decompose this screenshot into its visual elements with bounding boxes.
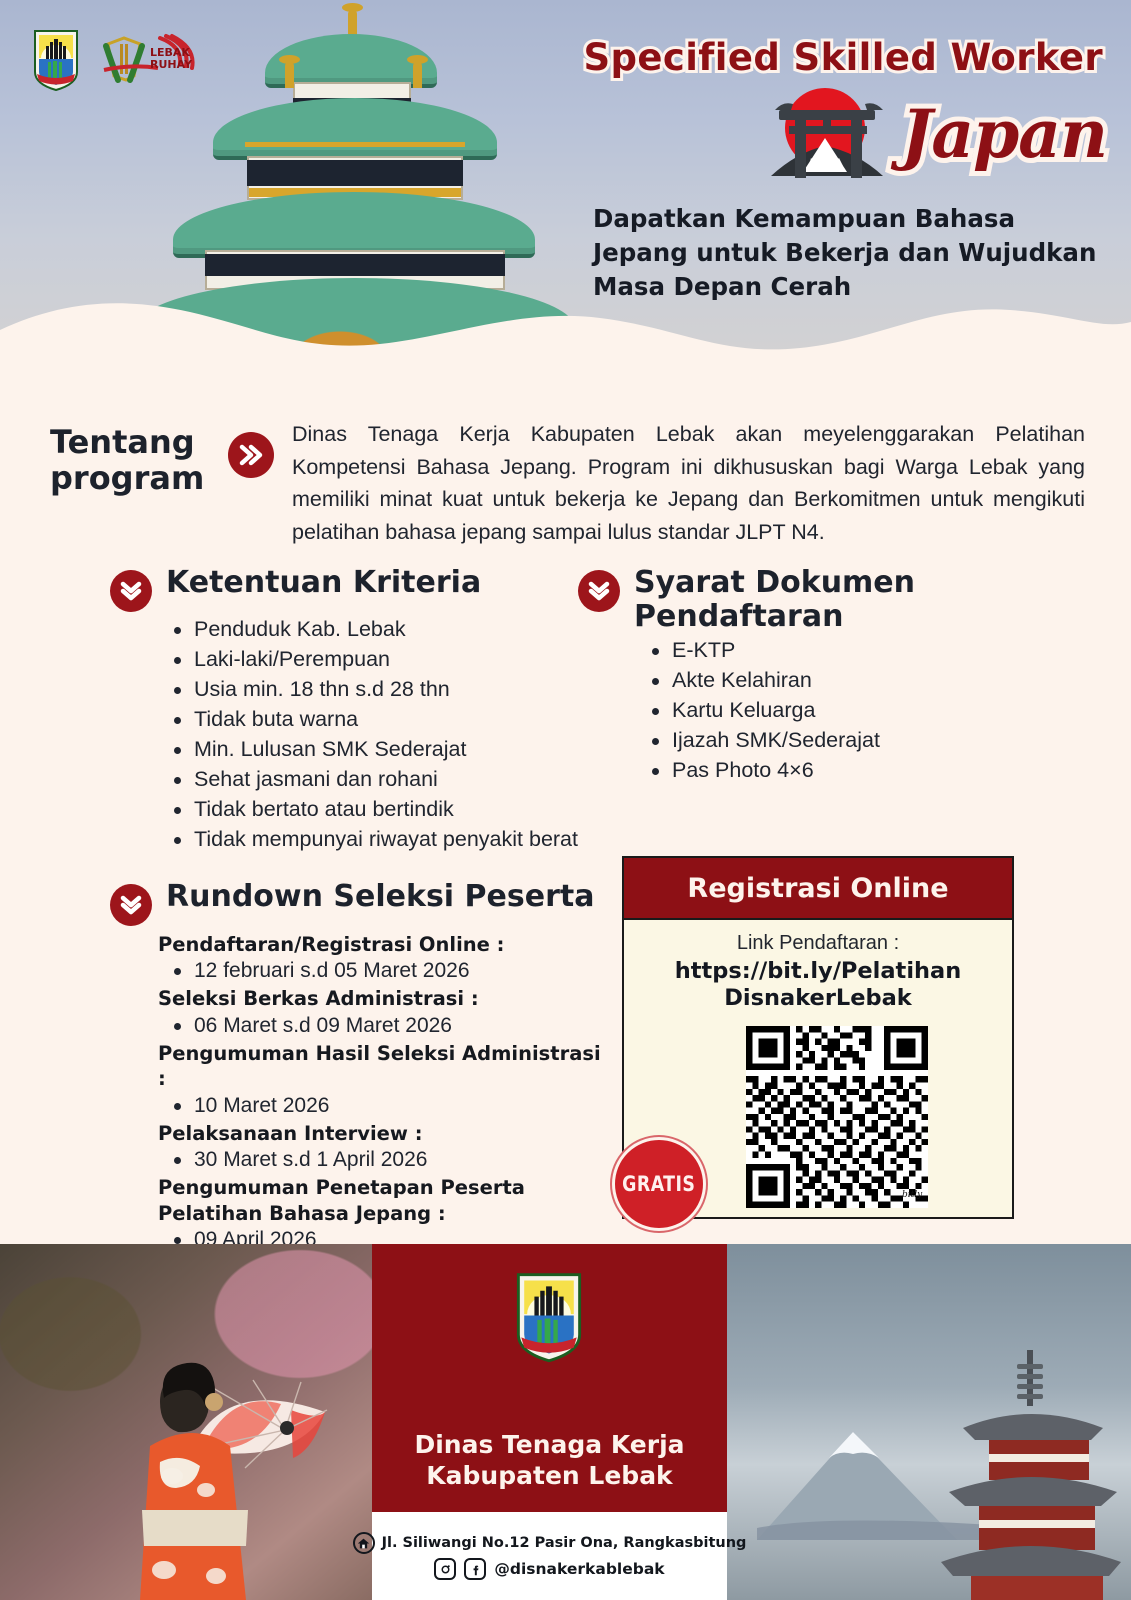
list-item: E-KTP	[646, 637, 1018, 665]
double-chevron-down-icon	[110, 884, 152, 926]
registration-heading: Registrasi Online	[687, 873, 948, 904]
list-item: Sehat jasmani dan rohani	[168, 766, 580, 794]
about-paragraph: Dinas Tenaga Kerja Kabupaten Lebak akan …	[292, 418, 1085, 549]
list-item: Tidak mempunyai riwayat penyakit berat	[168, 826, 580, 854]
hero-banner: LEBAK RUHAY Specified Skilled Worker	[0, 0, 1131, 400]
bitly-watermark: bitly	[902, 1190, 922, 1200]
list-item: Usia min. 18 thn s.d 28 thn	[168, 676, 580, 704]
criteria-header: Ketentuan Kriteria	[110, 566, 580, 612]
double-chevron-right-icon	[228, 432, 274, 478]
criteria-title: Ketentuan Kriteria	[166, 566, 481, 600]
criteria-list: Penduduk Kab. Lebak Laki-laki/Perempuan …	[168, 616, 580, 854]
double-chevron-down-icon	[110, 570, 152, 612]
social-handle[interactable]: @disnakerkablebak	[494, 1560, 664, 1578]
instagram-icon[interactable]	[434, 1558, 456, 1580]
list-item: Penduduk Kab. Lebak	[168, 616, 580, 644]
lebak-ruhay-logo: LEBAK RUHAY	[98, 30, 198, 90]
mount-fuji-pagoda-photo	[727, 1244, 1131, 1600]
contact-strip: Jl. Siliwangi No.12 Pasir Ona, Rangkasbi…	[372, 1512, 727, 1600]
rundown-list: Pendaftaran/Registrasi Online : 12 febru…	[158, 932, 610, 1254]
list-item: Tidak bertato atau bertindik	[168, 796, 580, 824]
pagoda-icon	[941, 1350, 1121, 1600]
documents-section: Syarat Dokumen Pendaftaran E-KTP Akte Ke…	[578, 566, 1018, 787]
japan-logo-row: Japan	[767, 86, 1107, 182]
double-chevron-down-icon	[578, 570, 620, 612]
list-item: Laki-laki/Perempuan	[168, 646, 580, 674]
page-title: Specified Skilled Worker	[583, 36, 1103, 79]
documents-list: E-KTP Akte Kelahiran Kartu Keluarga Ijaz…	[646, 637, 1018, 785]
gratis-label: GRATIS	[622, 1172, 695, 1196]
list-item: Min. Lulusan SMK Sederajat	[168, 736, 580, 764]
rundown-term: Pelaksanaan Interview :	[158, 1121, 610, 1146]
facebook-icon[interactable]	[464, 1558, 486, 1580]
torii-gate-icon	[767, 86, 891, 182]
poster-root: LEBAK RUHAY Specified Skilled Worker	[0, 0, 1131, 1600]
list-item: Kartu Keluarga	[646, 697, 1018, 725]
list-item: Tidak buta warna	[168, 706, 580, 734]
registration-header: Registrasi Online	[624, 858, 1012, 920]
about-label-line2: program	[50, 460, 228, 496]
about-program-section: Tentang program Dinas Tenaga Kerja Kabup…	[50, 418, 1085, 549]
registration-link-label: Link Pendaftaran :	[624, 932, 1012, 955]
registration-url-line1: https://bit.ly/Pelatihan	[624, 958, 1012, 985]
org-line-2: Kabupaten Lebak	[372, 1461, 727, 1492]
org-line-1: Dinas Tenaga Kerja	[372, 1430, 727, 1461]
list-item: Ijazah SMK/Sederajat	[646, 727, 1018, 755]
rundown-value: 30 Maret s.d 1 April 2026	[158, 1146, 610, 1174]
list-item: Pas Photo 4×6	[646, 757, 1018, 785]
documents-title: Syarat Dokumen Pendaftaran	[634, 566, 1018, 633]
rundown-value: 12 februari s.d 05 Maret 2026	[158, 957, 610, 985]
kimono-woman-photo	[0, 1244, 372, 1600]
rundown-header: Rundown Seleksi Peserta	[110, 880, 610, 926]
rundown-section: Rundown Seleksi Peserta Pendaftaran/Regi…	[110, 880, 610, 1255]
rundown-term: Seleksi Berkas Administrasi :	[158, 986, 610, 1011]
rundown-term: Pendaftaran/Registrasi Online :	[158, 932, 610, 957]
rundown-term: Pengumuman Penetapan Peserta Pelatihan B…	[158, 1175, 610, 1226]
registration-url[interactable]: https://bit.ly/Pelatihan DisnakerLebak	[624, 958, 1012, 1013]
about-label-line1: Tentang	[50, 424, 228, 460]
about-label: Tentang program	[50, 418, 228, 549]
organization-name: Dinas Tenaga Kerja Kabupaten Lebak	[372, 1430, 727, 1491]
svg-text:RUHAY: RUHAY	[150, 58, 193, 71]
registration-url-line2: DisnakerLebak	[624, 985, 1012, 1012]
address-row: Jl. Siliwangi No.12 Pasir Ona, Rangkasbi…	[353, 1532, 747, 1554]
rundown-title: Rundown Seleksi Peserta	[166, 880, 594, 914]
qr-code-icon[interactable]	[746, 1026, 928, 1208]
rundown-value: 06 Maret s.d 09 Maret 2026	[158, 1012, 610, 1040]
rundown-term: Pengumuman Hasil Seleksi Administrasi :	[158, 1041, 610, 1092]
criteria-section: Ketentuan Kriteria Penduduk Kab. Lebak L…	[110, 566, 580, 856]
list-item: Akte Kelahiran	[646, 667, 1018, 695]
documents-header: Syarat Dokumen Pendaftaran	[578, 566, 1018, 633]
status-badge: GRATIS	[615, 1140, 703, 1228]
rundown-value: 10 Maret 2026	[158, 1092, 610, 1120]
footer: Dinas Tenaga Kerja Kabupaten Lebak Jl. S…	[0, 1244, 1131, 1600]
lebak-regency-emblem	[514, 1270, 584, 1364]
home-icon	[353, 1532, 375, 1554]
hero-subtitle: Dapatkan Kemampuan Bahasa Jepang untuk B…	[593, 202, 1103, 303]
address-text: Jl. Siliwangi No.12 Pasir Ona, Rangkasbi…	[382, 1535, 747, 1551]
social-row: @disnakerkablebak	[434, 1558, 664, 1580]
lebak-regency-emblem	[32, 28, 80, 92]
japan-wordmark: Japan	[901, 101, 1107, 167]
kimono-figure	[120, 1350, 270, 1600]
